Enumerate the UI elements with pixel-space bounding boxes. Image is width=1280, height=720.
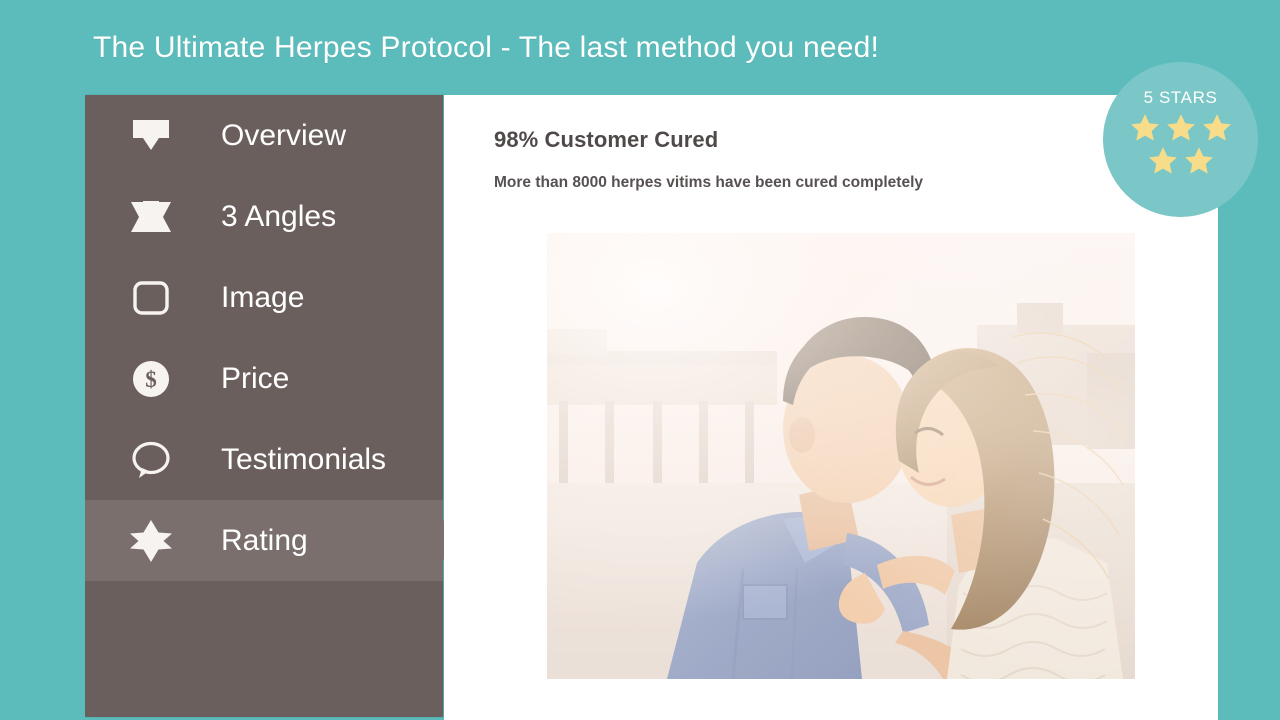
rating-badge: 5 STARS <box>1103 62 1258 217</box>
badge-star-group <box>1115 112 1247 178</box>
star-icon <box>1182 145 1216 178</box>
ribbon-icon <box>115 176 187 257</box>
badge-label: 5 STARS <box>1144 88 1218 108</box>
star-icon <box>1164 112 1198 145</box>
badge-star-row-bottom <box>1115 145 1247 178</box>
content-heading: 98% Customer Cured <box>494 127 718 153</box>
sidebar-item-overview[interactable]: Overview <box>85 95 443 176</box>
couple-photo <box>547 233 1135 679</box>
slide-container: Overview 3 Angles Image <box>85 95 1218 720</box>
sidebar-item-label: Overview <box>221 119 346 153</box>
svg-text:$: $ <box>145 367 157 392</box>
sidebar-item-3-angles[interactable]: 3 Angles <box>85 176 443 257</box>
sidebar-item-price[interactable]: $ Price <box>85 338 443 419</box>
sidebar-item-label: Image <box>221 281 304 315</box>
badge-star-row-top <box>1115 112 1247 145</box>
rounded-square-outline-icon <box>115 257 187 338</box>
six-point-star-icon <box>115 500 187 581</box>
sidebar-item-rating[interactable]: Rating <box>85 500 443 581</box>
sidebar-item-label: Rating <box>221 524 308 558</box>
content-subtext: More than 8000 herpes vitims have been c… <box>494 171 994 194</box>
banner-down-icon <box>115 95 187 176</box>
star-icon <box>1146 145 1180 178</box>
sidebar-item-testimonials[interactable]: Testimonials <box>85 419 443 500</box>
content-panel: 98% Customer Cured More than 8000 herpes… <box>444 95 1218 720</box>
sidebar-item-label: Price <box>221 362 289 396</box>
star-icon <box>1200 112 1234 145</box>
page-title: The Ultimate Herpes Protocol - The last … <box>93 28 879 68</box>
sidebar-item-label: Testimonials <box>221 443 386 477</box>
speech-bubble-icon <box>115 419 187 500</box>
sidebar-nav: Overview 3 Angles Image <box>85 95 443 717</box>
sidebar-item-image[interactable]: Image <box>85 257 443 338</box>
dollar-circle-icon: $ <box>115 338 187 419</box>
star-icon <box>1128 112 1162 145</box>
sidebar-item-label: 3 Angles <box>221 200 336 234</box>
